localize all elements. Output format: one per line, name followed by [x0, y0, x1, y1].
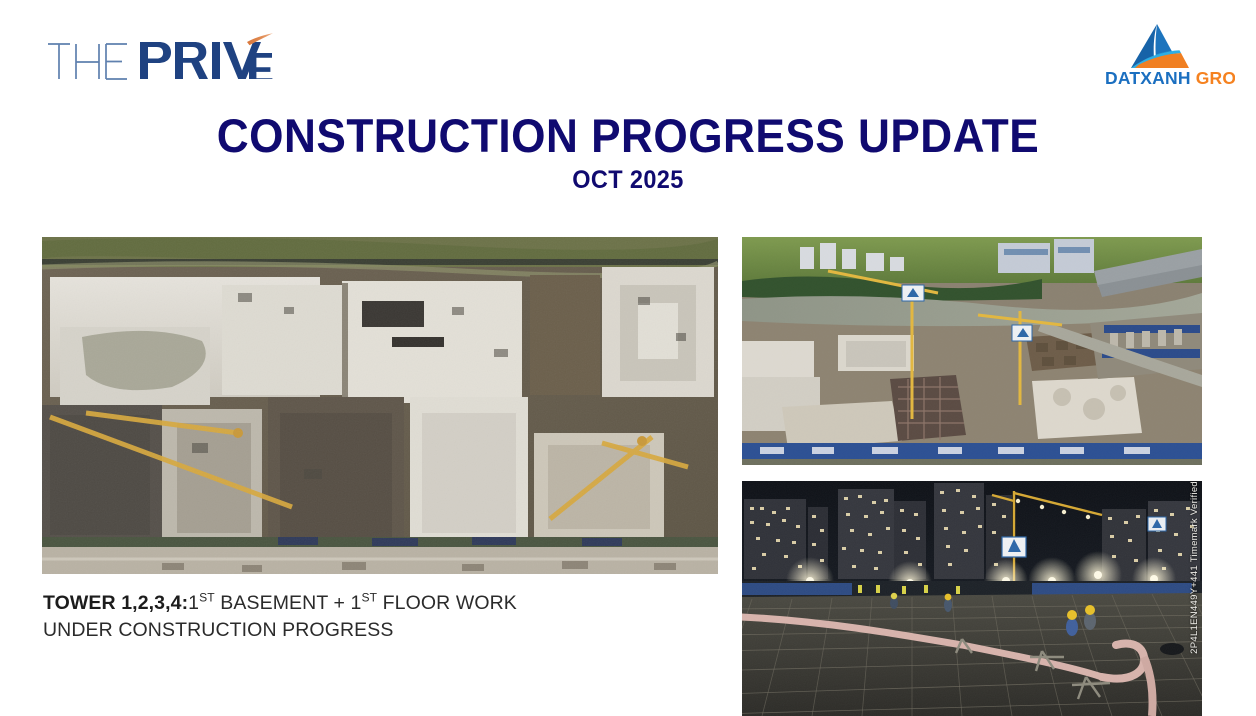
photo-aerial-top: [42, 237, 718, 574]
photo-night-pour: 2P4L1EN449Y+441 Timemark Verified: [742, 481, 1202, 716]
brand-logo-artwork: [44, 28, 274, 90]
datxanh-logo-artwork: DATXANH GROUP: [1105, 20, 1235, 92]
caption-line1-b: FLOOR WORK: [377, 592, 517, 614]
page-title: CONSTRUCTION PROGRESS UPDATE: [38, 108, 1219, 163]
caption-line1-a: 1: [188, 592, 199, 614]
caption-sup-a: ST: [199, 591, 215, 605]
photo-night-pour-artwork: [742, 481, 1202, 716]
datxanh-word-primary: DATXANH: [1105, 68, 1191, 88]
caption-sup-b: ST: [361, 591, 377, 605]
caption-line2: UNDER CONSTRUCTION PROGRESS: [43, 617, 703, 644]
photo-aerial-oblique-artwork: [742, 237, 1202, 465]
logo-word-prive: [140, 42, 272, 79]
caption-line1-mid: BASEMENT + 1: [215, 592, 362, 614]
photo-caption: TOWER 1,2,3,4:1ST BASEMENT + 1ST FLOOR W…: [43, 590, 703, 644]
photo-aerial-top-artwork: [42, 237, 718, 574]
photo-aerial-oblique: [742, 237, 1202, 465]
page-subtitle: OCT 2025: [38, 166, 1219, 195]
caption-lead: TOWER 1,2,3,4:: [43, 592, 188, 614]
datxanh-word-secondary: GROUP: [1191, 68, 1235, 88]
brand-logo-the-prive: [44, 28, 274, 90]
datxanh-group-logo: DATXANH GROUP: [1105, 20, 1235, 92]
logo-word-the: [48, 44, 127, 79]
datxanh-wordmark: DATXANH GROUP: [1105, 68, 1235, 88]
datxanh-triangle-icon: [1131, 24, 1189, 68]
